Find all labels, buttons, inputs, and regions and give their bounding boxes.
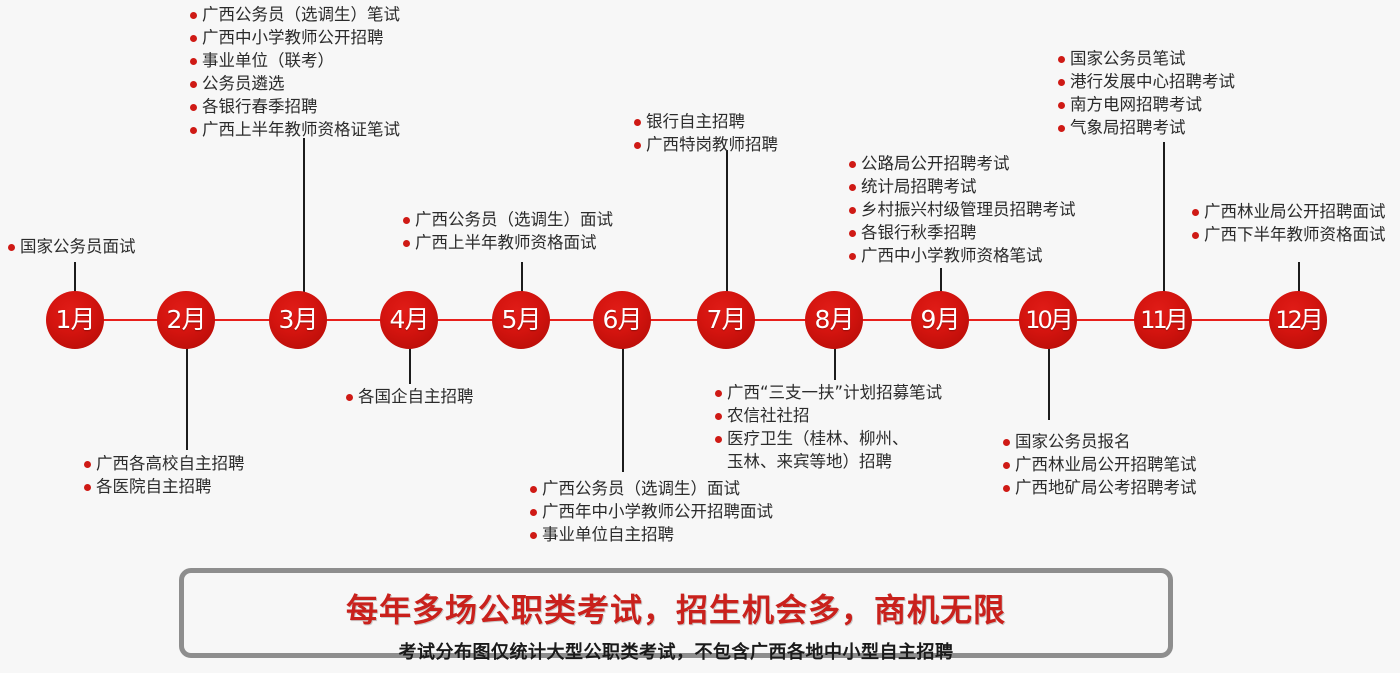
label-block-june: 广西公务员（选调生）面试 广西年中小学教师公开招聘面试 事业单位自主招聘 xyxy=(530,477,773,546)
list-item: 公路局公开招聘考试 xyxy=(849,152,1076,175)
bullet-icon xyxy=(346,394,353,401)
month-node-4[interactable]: 4月 xyxy=(380,291,438,349)
month-node-6[interactable]: 6月 xyxy=(593,291,651,349)
list-item: 各国企自主招聘 xyxy=(346,385,474,408)
label-block-august: 广西“三支一扶”计划招募笔试 农信社社招 医疗卫生（桂林、柳州、玉林、来宾等地）… xyxy=(715,381,942,473)
month-node-12[interactable]: 12月 xyxy=(1269,291,1327,349)
month-node-7[interactable]: 7月 xyxy=(697,291,755,349)
bullet-icon xyxy=(190,58,197,65)
list-item: 乡村振兴村级管理员招聘考试 xyxy=(849,198,1076,221)
stem-month-11-up xyxy=(1163,142,1165,292)
list-item-label: 广西年中小学教师公开招聘面试 xyxy=(542,502,773,521)
list-item: 广西林业局公开招聘面试 xyxy=(1192,200,1386,223)
list-item-label: 气象局招聘考试 xyxy=(1070,118,1186,137)
list-item: 气象局招聘考试 xyxy=(1058,116,1235,139)
list-item-label: 公务员遴选 xyxy=(202,74,285,93)
list-item-label: 广西中小学教师资格笔试 xyxy=(861,246,1043,265)
list-item: 广西公务员（选调生）面试 xyxy=(403,208,613,231)
bullet-icon xyxy=(403,217,410,224)
bullet-icon xyxy=(849,230,856,237)
list-item-label: 统计局招聘考试 xyxy=(861,177,977,196)
label-block-september: 公路局公开招聘考试 统计局招聘考试 乡村振兴村级管理员招聘考试 各银行秋季招聘 … xyxy=(849,152,1076,267)
list-item: 事业单位自主招聘 xyxy=(530,523,773,546)
bullet-icon xyxy=(849,161,856,168)
list-item-label: 银行自主招聘 xyxy=(646,112,745,131)
stem-month-3-up xyxy=(303,138,305,292)
list-item-label: 广西上半年教师资格面试 xyxy=(415,233,597,252)
month-node-1[interactable]: 1月 xyxy=(46,291,104,349)
stem-month-5-up xyxy=(521,262,523,292)
list-item: 各医院自主招聘 xyxy=(84,475,245,498)
bullet-icon xyxy=(1003,485,1010,492)
stem-month-8-down xyxy=(834,348,836,380)
bullet-icon xyxy=(190,104,197,111)
bullet-icon xyxy=(1192,209,1199,216)
list-item: 南方电网招聘考试 xyxy=(1058,93,1235,116)
bullet-icon xyxy=(849,184,856,191)
list-item: 国家公务员面试 xyxy=(8,235,136,258)
bullet-icon xyxy=(403,240,410,247)
bullet-icon xyxy=(715,390,722,397)
month-node-8[interactable]: 8月 xyxy=(805,291,863,349)
bullet-icon xyxy=(849,253,856,260)
stem-month-1-up xyxy=(74,262,76,292)
list-item-label: 广西公务员（选调生）面试 xyxy=(415,210,613,229)
list-item-label: 广西下半年教师资格面试 xyxy=(1204,225,1386,244)
list-item: 广西上半年教师资格面试 xyxy=(403,231,613,254)
list-item: 广西公务员（选调生）面试 xyxy=(530,477,773,500)
list-item: 各银行春季招聘 xyxy=(190,95,400,118)
list-item-label: 广西各高校自主招聘 xyxy=(96,454,245,473)
bullet-icon xyxy=(715,436,722,443)
label-block-march: 广西公务员（选调生）笔试 广西中小学教师公开招聘 事业单位（联考） 公务员遴选 … xyxy=(190,3,400,141)
month-node-3[interactable]: 3月 xyxy=(269,291,327,349)
summary-banner: 每年多场公职类考试，招生机会多，商机无限 考试分布图仅统计大型公职类考试，不包含… xyxy=(179,568,1173,658)
stem-month-6-down xyxy=(622,348,624,472)
list-item-label: 国家公务员面试 xyxy=(20,237,136,256)
stem-month-10-down xyxy=(1048,348,1050,420)
list-item: 公务员遴选 xyxy=(190,72,400,95)
label-block-april: 各国企自主招聘 xyxy=(346,385,474,408)
bullet-icon xyxy=(715,413,722,420)
bullet-icon xyxy=(530,486,537,493)
bullet-icon xyxy=(1058,125,1065,132)
list-item-label: 广西林业局公开招聘面试 xyxy=(1204,202,1386,221)
list-item: 事业单位（联考） xyxy=(190,49,400,72)
month-node-2[interactable]: 2月 xyxy=(157,291,215,349)
bullet-icon xyxy=(530,532,537,539)
list-item: 港行发展中心招聘考试 xyxy=(1058,70,1235,93)
banner-title: 每年多场公职类考试，招生机会多，商机无限 xyxy=(184,585,1168,631)
stem-month-7-up xyxy=(726,150,728,292)
list-item-label: 南方电网招聘考试 xyxy=(1070,95,1202,114)
list-item: 农信社社招 xyxy=(715,404,942,427)
list-item-label: 广西“三支一扶”计划招募笔试 xyxy=(727,383,942,402)
bullet-icon xyxy=(634,142,641,149)
list-item-label: 广西林业局公开招聘笔试 xyxy=(1015,455,1197,474)
month-node-10[interactable]: 10月 xyxy=(1019,291,1077,349)
list-item: 广西林业局公开招聘笔试 xyxy=(1003,453,1197,476)
label-block-july: 银行自主招聘 广西特岗教师招聘 xyxy=(634,110,778,156)
list-item-label: 农信社社招 xyxy=(727,406,810,425)
list-item-label: 公路局公开招聘考试 xyxy=(861,154,1010,173)
bullet-icon xyxy=(634,119,641,126)
timeline-infographic: 1月 2月 3月 4月 5月 6月 7月 8月 9月 10月 11月 12月 国… xyxy=(0,0,1400,673)
bullet-icon xyxy=(1058,102,1065,109)
label-block-december: 广西林业局公开招聘面试 广西下半年教师资格面试 xyxy=(1192,200,1386,246)
bullet-icon xyxy=(1058,56,1065,63)
label-block-january: 国家公务员面试 xyxy=(8,235,136,258)
label-block-november: 国家公务员笔试 港行发展中心招聘考试 南方电网招聘考试 气象局招聘考试 xyxy=(1058,47,1235,139)
list-item-label: 事业单位（联考） xyxy=(202,51,334,70)
list-item-label: 广西地矿局公考招聘考试 xyxy=(1015,478,1197,497)
list-item-label: 医疗卫生（桂林、柳州、玉林、来宾等地）招聘 xyxy=(727,429,909,471)
list-item: 广西上半年教师资格证笔试 xyxy=(190,118,400,141)
list-item-label: 各医院自主招聘 xyxy=(96,477,212,496)
list-item: 广西下半年教师资格面试 xyxy=(1192,223,1386,246)
bullet-icon xyxy=(190,81,197,88)
bullet-icon xyxy=(84,484,91,491)
list-item-label: 港行发展中心招聘考试 xyxy=(1070,72,1235,91)
list-item: 国家公务员报名 xyxy=(1003,430,1197,453)
bullet-icon xyxy=(849,207,856,214)
list-item: 广西公务员（选调生）笔试 xyxy=(190,3,400,26)
list-item-label: 国家公务员笔试 xyxy=(1070,49,1186,68)
list-item-label: 各国企自主招聘 xyxy=(358,387,474,406)
bullet-icon xyxy=(530,509,537,516)
list-item-label: 广西公务员（选调生）面试 xyxy=(542,479,740,498)
timeline-axis xyxy=(60,319,1300,321)
list-item: 医疗卫生（桂林、柳州、玉林、来宾等地）招聘 xyxy=(715,427,917,473)
bullet-icon xyxy=(190,12,197,19)
list-item: 各银行秋季招聘 xyxy=(849,221,1076,244)
stem-month-4-down xyxy=(409,348,411,384)
list-item-label: 各银行秋季招聘 xyxy=(861,223,977,242)
list-item-label: 广西特岗教师招聘 xyxy=(646,135,778,154)
bullet-icon xyxy=(190,127,197,134)
bullet-icon xyxy=(84,461,91,468)
bullet-icon xyxy=(190,35,197,42)
bullet-icon xyxy=(8,244,15,251)
list-item: 广西各高校自主招聘 xyxy=(84,452,245,475)
bullet-icon xyxy=(1003,439,1010,446)
list-item-label: 事业单位自主招聘 xyxy=(542,525,674,544)
list-item: 统计局招聘考试 xyxy=(849,175,1076,198)
list-item-label: 各银行春季招聘 xyxy=(202,97,318,116)
list-item-label: 广西公务员（选调生）笔试 xyxy=(202,5,400,24)
label-block-february: 广西各高校自主招聘 各医院自主招聘 xyxy=(84,452,245,498)
list-item-label: 乡村振兴村级管理员招聘考试 xyxy=(861,200,1076,219)
bullet-icon xyxy=(1003,462,1010,469)
month-node-5[interactable]: 5月 xyxy=(492,291,550,349)
list-item-label: 国家公务员报名 xyxy=(1015,432,1131,451)
list-item: 国家公务员笔试 xyxy=(1058,47,1235,70)
list-item: 广西中小学教师资格笔试 xyxy=(849,244,1076,267)
bullet-icon xyxy=(1192,232,1199,239)
banner-subtitle: 考试分布图仅统计大型公职类考试，不包含广西各地中小型自主招聘 xyxy=(184,638,1168,664)
label-block-october: 国家公务员报名 广西林业局公开招聘笔试 广西地矿局公考招聘考试 xyxy=(1003,430,1197,499)
list-item: 广西中小学教师公开招聘 xyxy=(190,26,400,49)
list-item: 广西地矿局公考招聘考试 xyxy=(1003,476,1197,499)
month-node-9[interactable]: 9月 xyxy=(911,291,969,349)
label-block-may: 广西公务员（选调生）面试 广西上半年教师资格面试 xyxy=(403,208,613,254)
month-node-11[interactable]: 11月 xyxy=(1134,291,1192,349)
list-item: 广西年中小学教师公开招聘面试 xyxy=(530,500,773,523)
list-item: 广西特岗教师招聘 xyxy=(634,133,778,156)
list-item-label: 广西中小学教师公开招聘 xyxy=(202,28,384,47)
list-item: 银行自主招聘 xyxy=(634,110,778,133)
stem-month-9-up xyxy=(940,268,942,292)
stem-month-12-up xyxy=(1298,262,1300,292)
bullet-icon xyxy=(1058,79,1065,86)
list-item: 广西“三支一扶”计划招募笔试 xyxy=(715,381,942,404)
list-item-label: 广西上半年教师资格证笔试 xyxy=(202,120,400,139)
stem-month-2-down xyxy=(186,348,188,450)
